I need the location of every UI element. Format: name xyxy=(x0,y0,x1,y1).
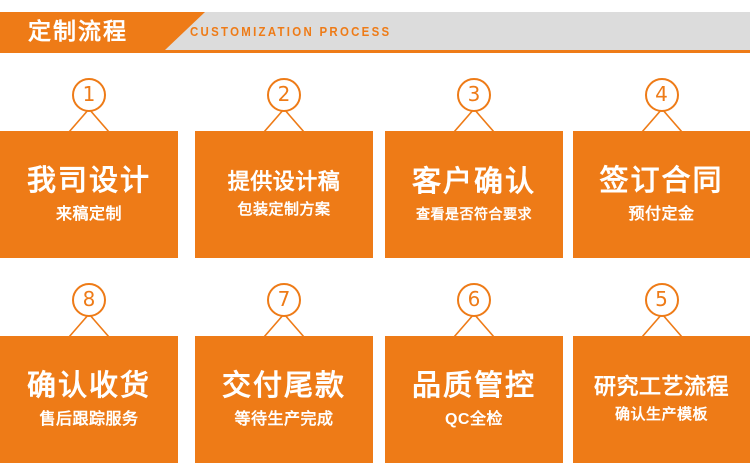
step-number-badge: 4 xyxy=(645,78,679,112)
step-subtitle: 来稿定制 xyxy=(56,206,122,224)
step-number-badge: 6 xyxy=(457,283,491,317)
process-step-card[interactable]: 7 交付尾款 等待生产完成 xyxy=(195,275,373,463)
step-title: 提供设计稿 xyxy=(228,170,341,194)
header-banner: 定制流程 CUSTOMIZATION PROCESS xyxy=(0,12,750,53)
customization-process-infographic: 定制流程 CUSTOMIZATION PROCESS 1 我司设计 来稿定制 xyxy=(0,0,750,474)
step-number-badge: 2 xyxy=(267,78,301,112)
banner-title-english: CUSTOMIZATION PROCESS xyxy=(190,12,391,50)
process-step-card[interactable]: 6 品质管控 QC全检 xyxy=(385,275,563,463)
step-title: 客户确认 xyxy=(412,167,536,199)
step-number: 1 xyxy=(74,80,104,110)
step-box: 提供设计稿 包装定制方案 xyxy=(195,131,373,258)
banner-underline xyxy=(0,50,750,53)
step-subtitle: 等待生产完成 xyxy=(234,411,333,429)
step-title: 签订合同 xyxy=(599,166,723,198)
step-number-badge: 5 xyxy=(645,283,679,317)
step-title: 交付尾款 xyxy=(222,371,346,403)
step-subtitle: 包装定制方案 xyxy=(237,202,330,219)
step-box: 交付尾款 等待生产完成 xyxy=(195,336,373,463)
process-step-card[interactable]: 1 我司设计 来稿定制 xyxy=(0,70,178,258)
step-box: 确认收货 售后跟踪服务 xyxy=(0,336,178,463)
step-number-badge: 1 xyxy=(72,78,106,112)
step-title: 确认收货 xyxy=(27,371,151,403)
step-number: 3 xyxy=(459,80,489,110)
banner-title-chinese: 定制流程 xyxy=(28,12,128,50)
step-number: 4 xyxy=(647,80,677,110)
process-row-top: 1 我司设计 来稿定制 2 提供设计稿 xyxy=(0,70,750,258)
step-number: 2 xyxy=(269,80,299,110)
process-step-grid: 1 我司设计 来稿定制 2 提供设计稿 xyxy=(0,70,750,474)
step-number: 6 xyxy=(459,285,489,315)
step-box: 客户确认 查看是否符合要求 xyxy=(385,131,563,258)
step-box: 签订合同 预付定金 xyxy=(573,131,750,258)
step-title: 我司设计 xyxy=(27,166,151,198)
step-subtitle: 查看是否符合要求 xyxy=(416,207,532,222)
process-step-card[interactable]: 5 研究工艺流程 确认生产模板 xyxy=(573,275,750,463)
process-step-card[interactable]: 4 签订合同 预付定金 xyxy=(573,70,750,258)
step-number: 8 xyxy=(74,285,104,315)
step-number-badge: 3 xyxy=(457,78,491,112)
step-number: 7 xyxy=(269,285,299,315)
step-number: 5 xyxy=(647,285,677,315)
step-subtitle: QC全检 xyxy=(445,411,503,429)
step-number-badge: 8 xyxy=(72,283,106,317)
step-subtitle: 预付定金 xyxy=(628,206,694,224)
step-title: 品质管控 xyxy=(412,371,536,403)
step-subtitle: 确认生产模板 xyxy=(615,407,708,424)
step-box: 研究工艺流程 确认生产模板 xyxy=(573,336,750,463)
step-title: 研究工艺流程 xyxy=(594,375,729,399)
step-box: 我司设计 来稿定制 xyxy=(0,131,178,258)
step-subtitle: 售后跟踪服务 xyxy=(39,411,138,429)
step-number-badge: 7 xyxy=(267,283,301,317)
step-box: 品质管控 QC全检 xyxy=(385,336,563,463)
process-step-card[interactable]: 2 提供设计稿 包装定制方案 xyxy=(195,70,373,258)
process-step-card[interactable]: 3 客户确认 查看是否符合要求 xyxy=(385,70,563,258)
process-step-card[interactable]: 8 确认收货 售后跟踪服务 xyxy=(0,275,178,463)
process-row-bottom: 8 确认收货 售后跟踪服务 7 交付尾款 xyxy=(0,275,750,463)
